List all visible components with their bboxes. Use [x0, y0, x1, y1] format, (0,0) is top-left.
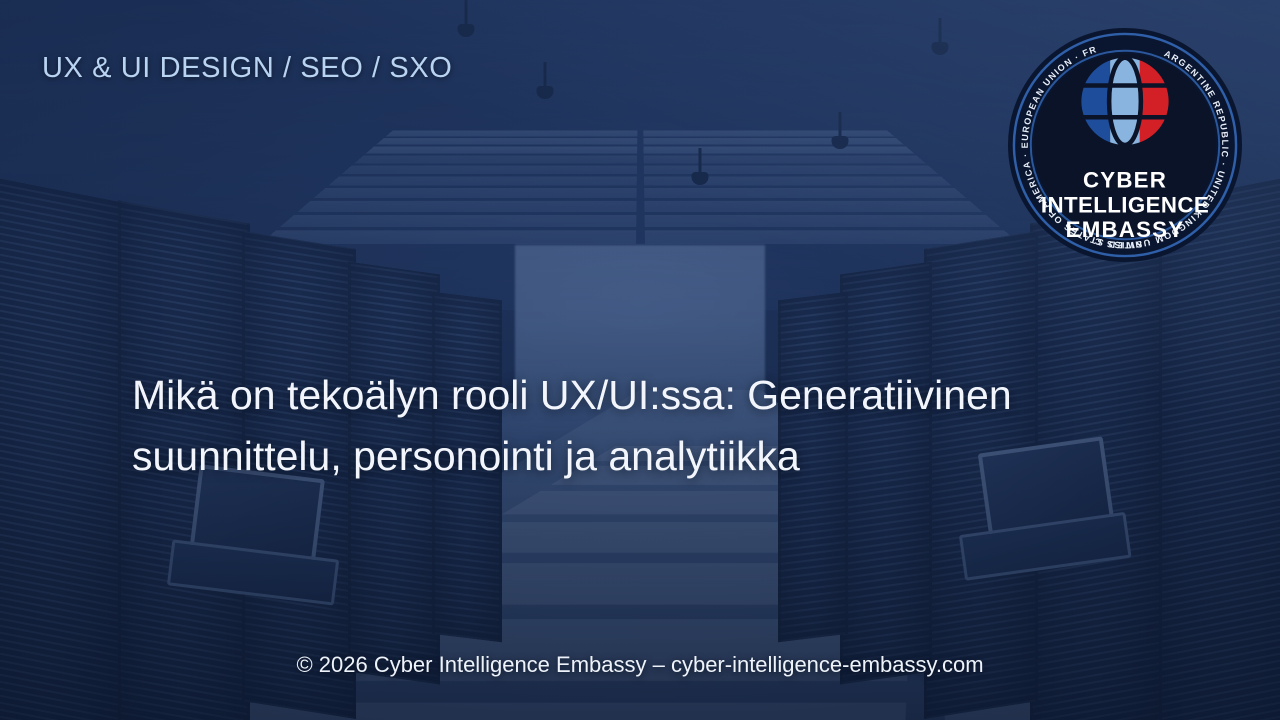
presentation-slide: UX & UI DESIGN / SEO / SXO Mikä on tekoä… [0, 0, 1280, 720]
slide-content: UX & UI DESIGN / SEO / SXO Mikä on tekoä… [0, 0, 1280, 720]
slide-footer-copyright: © 2026 Cyber Intelligence Embassy – cybe… [0, 652, 1280, 678]
seal-title-line2: INTELLIGENCE [1041, 192, 1209, 217]
logo-cyber-intelligence-embassy[interactable]: UNITED STATES OF AMERICA · EUROPEAN UNIO… [1006, 26, 1244, 264]
slide-headline: Mikä on tekoälyn rooli UX/UI:ssa: Genera… [132, 365, 1062, 486]
slide-kicker: UX & UI DESIGN / SEO / SXO [42, 52, 452, 85]
seal-title-line3: EMBASSY [1066, 217, 1185, 242]
seal-title-line1: CYBER [1083, 168, 1167, 193]
